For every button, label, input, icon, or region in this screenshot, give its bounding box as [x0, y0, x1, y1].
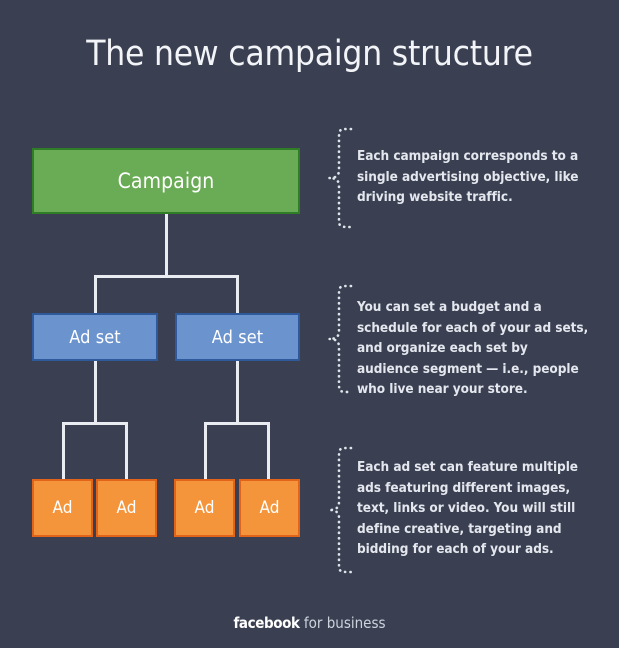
page-title: The new campaign structure: [0, 34, 619, 74]
dotted-brace-icon: [327, 126, 353, 230]
node-ad-1[interactable]: Ad: [32, 479, 93, 537]
infographic-canvas: The new campaign structure Campaign Ad s…: [0, 0, 619, 648]
connector-ad-2-drop: [125, 422, 128, 480]
connector-adset-2-drop: [236, 275, 239, 314]
connector-ad-4-drop: [267, 422, 270, 480]
connector-ad-3-drop: [204, 422, 207, 480]
node-ad-set-2[interactable]: Ad set: [175, 313, 300, 361]
connector-adset-1-drop: [94, 275, 97, 314]
connector-adset-bar: [94, 275, 238, 278]
dotted-brace-icon: [327, 283, 353, 395]
connector-adset-2-stem: [236, 361, 239, 424]
connector-campaign-stem: [165, 214, 168, 277]
facebook-wordmark: facebook: [233, 614, 299, 632]
node-ad-3[interactable]: Ad: [174, 479, 235, 537]
connector-ad-bar-left: [62, 422, 128, 425]
callout-ad-text: Each ad set can feature multiple ads fea…: [357, 457, 589, 560]
footer-brand: facebook for business: [0, 613, 619, 632]
callout-adset-text: You can set a budget and a schedule for …: [357, 297, 589, 400]
dotted-brace-icon: [327, 445, 353, 575]
callout-campaign-text: Each campaign corresponds to a single ad…: [357, 146, 589, 208]
node-ad-set-1[interactable]: Ad set: [32, 313, 158, 361]
node-campaign[interactable]: Campaign: [32, 148, 300, 214]
node-ad-4[interactable]: Ad: [239, 479, 300, 537]
footer-tagline-text: for business: [304, 614, 386, 632]
connector-ad-bar-right: [204, 422, 270, 425]
connector-ad-1-drop: [62, 422, 65, 480]
connector-adset-1-stem: [94, 361, 97, 424]
node-ad-2[interactable]: Ad: [96, 479, 157, 537]
